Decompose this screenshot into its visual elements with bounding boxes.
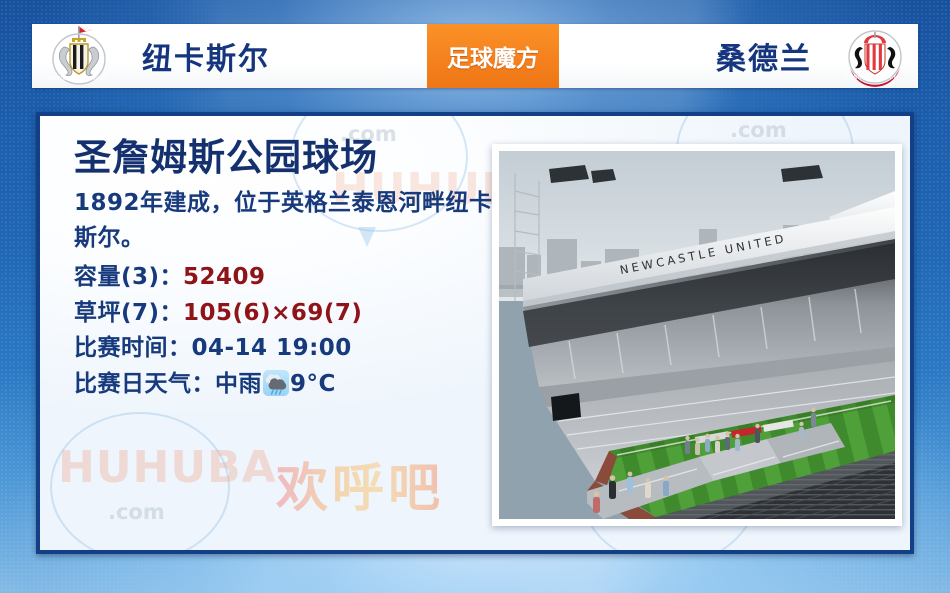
sunderland-afc-crest: SUNDERLAND A.F.C. (838, 25, 912, 87)
home-team-name: 纽卡斯尔 (142, 34, 270, 78)
weather-condition: 中雨 (215, 371, 262, 397)
pitch-label: 草坪(7)： (74, 300, 183, 326)
stadium-description: 1892年建成，位于英格兰泰恩河畔纽卡斯尔。 (74, 186, 494, 256)
match-weather-row: 比赛日天气：中雨9°C (74, 367, 494, 403)
weather-label: 比赛日天气： (74, 371, 215, 397)
away-team-name: 桑德兰 (716, 34, 812, 78)
site-brand-logo-text: 足球魔方 (447, 39, 539, 73)
stadium-title: 圣詹姆斯公园球场 (74, 138, 494, 178)
stadium-info-column: 圣詹姆斯公园球场 1892年建成，位于英格兰泰恩河畔纽卡斯尔。 容量(3)：52… (74, 138, 494, 402)
svg-text:SUNDERLAND A.F.C.: SUNDERLAND A.F.C. (846, 75, 905, 81)
rain-cloud-icon (263, 370, 289, 396)
match-time-row: 比赛时间：04-14 19:00 (74, 331, 494, 367)
capacity-label: 容量(3)： (74, 264, 183, 290)
stadium-info-panel: HUHUBA .com HUHUBA .com .com HUHUBA 欢呼吧 … (36, 112, 914, 554)
svg-text:NEWCASTLE UNITED: NEWCASTLE UNITED (49, 76, 109, 82)
pitch-value: 105(6)×69(7) (183, 300, 362, 326)
weather-temperature: 9°C (290, 371, 336, 397)
match-time-label: 比赛时间： (74, 335, 192, 361)
match-time-value: 04-14 19:00 (192, 335, 352, 361)
match-header-bar: NEWCASTLE UNITED 纽卡斯尔 足球魔方 桑德兰 SUNDERLAN (32, 24, 918, 88)
site-brand-logo[interactable]: 足球魔方 (427, 24, 559, 88)
capacity-row: 容量(3)：52409 (74, 260, 494, 296)
st-james-park-stadium-photo: NEWCASTLE UNITED (499, 151, 895, 519)
newcastle-united-crest: NEWCASTLE UNITED (42, 25, 116, 87)
stadium-photo-frame: NEWCASTLE UNITED (492, 144, 902, 526)
pitch-row: 草坪(7)：105(6)×69(7) (74, 296, 494, 332)
capacity-value: 52409 (183, 264, 266, 290)
